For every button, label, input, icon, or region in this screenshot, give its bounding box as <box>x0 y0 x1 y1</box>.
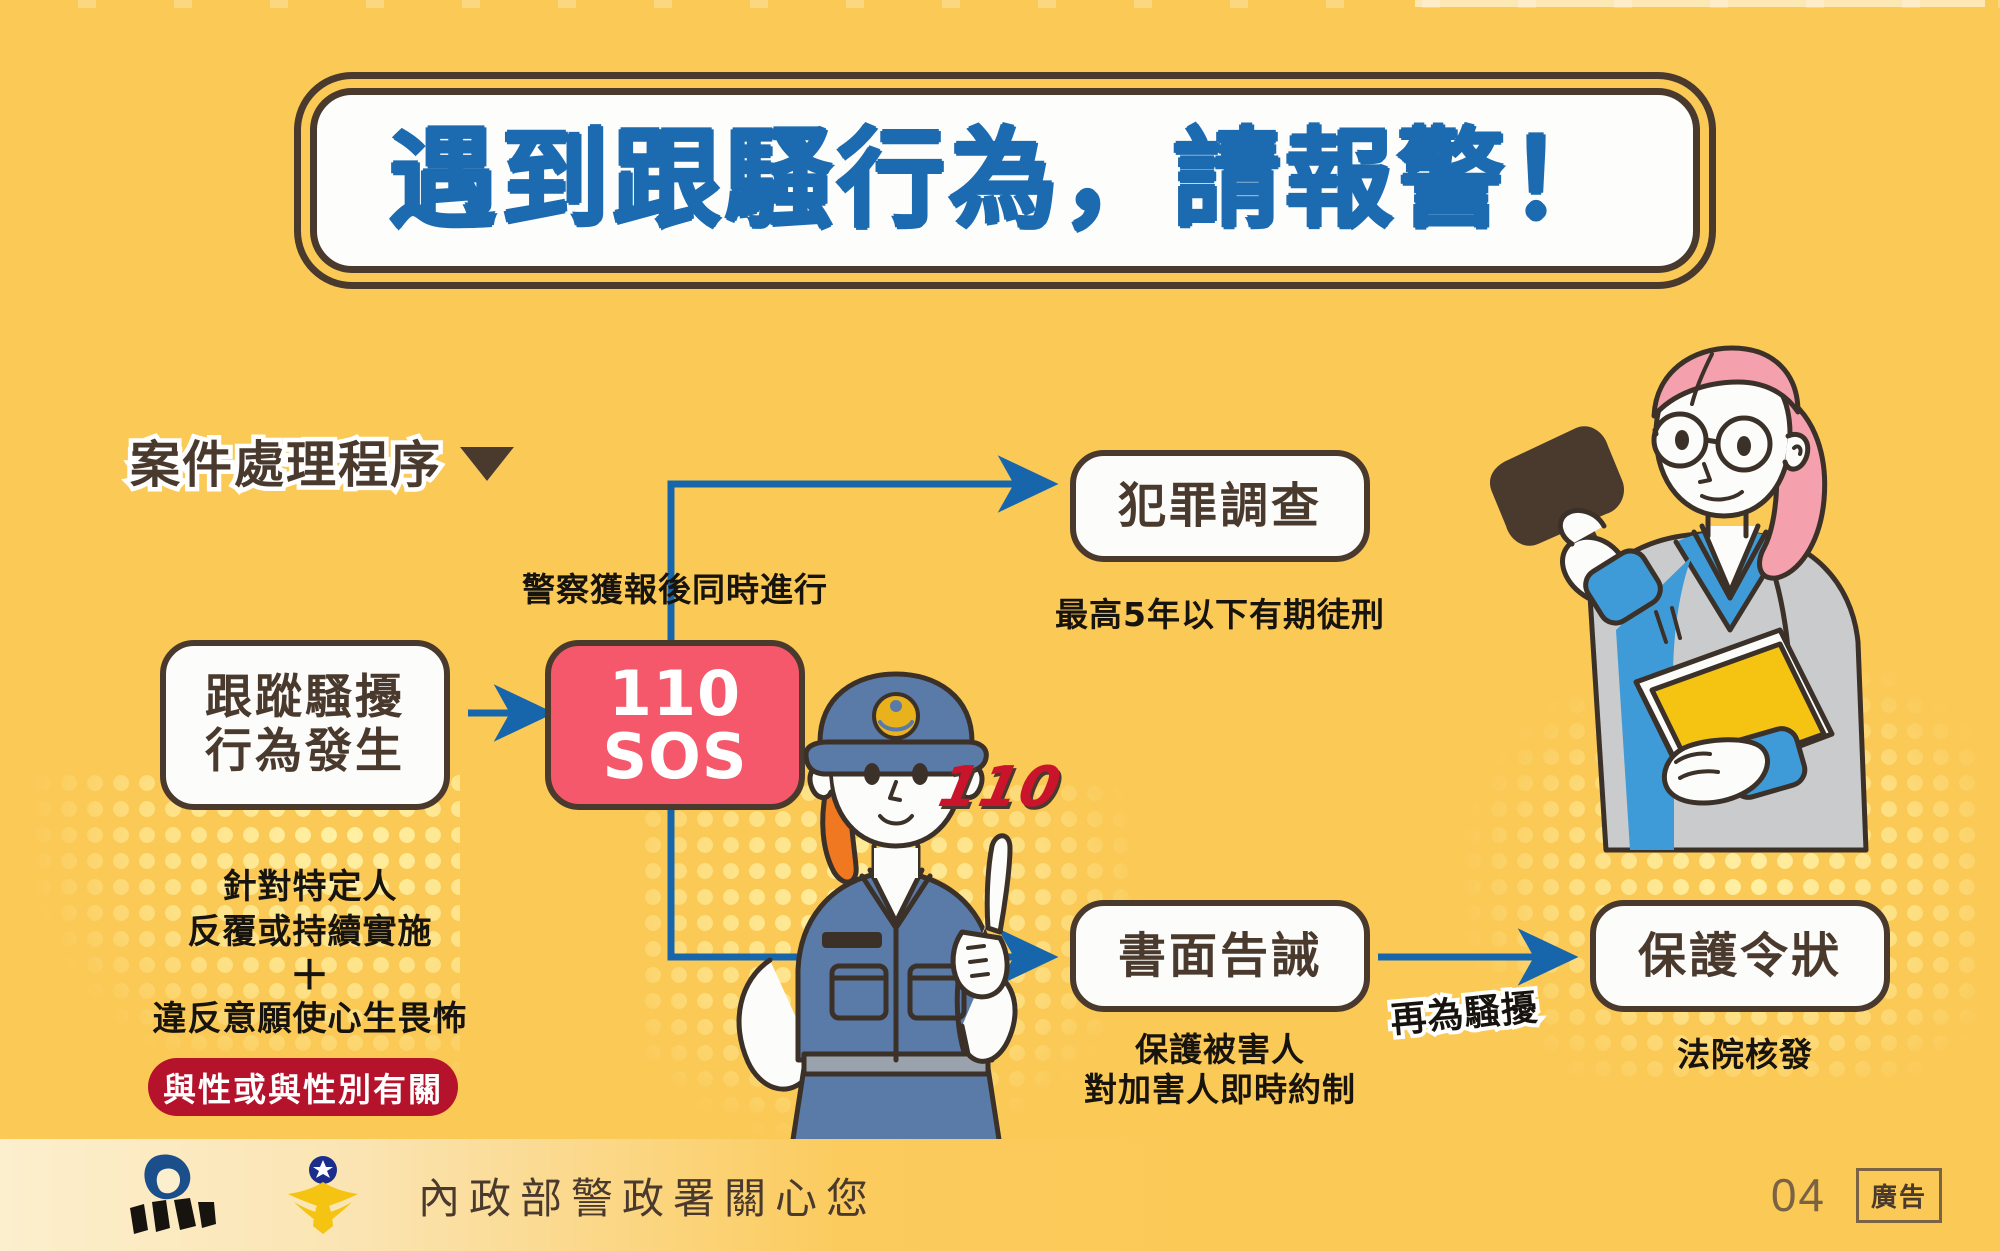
footer-right-group: 04 廣告 <box>1771 1168 1942 1223</box>
criteria-line2: 反覆或持續實施 <box>188 912 433 952</box>
judge-illustration <box>1480 330 1980 910</box>
note-warning-line1: 保護被害人 <box>1135 1030 1305 1069</box>
criteria-line1: 針對特定人 <box>223 867 398 907</box>
status-badge-gender-related: 與性或與性別有關 <box>148 1058 458 1116</box>
criteria-text: 針對特定人 反覆或持續實施 ＋ 違反意願使心生畏怖 <box>120 865 500 1042</box>
node-crime-investigation[interactable]: 犯罪調查 <box>1070 450 1370 562</box>
note-warning-line2: 對加害人即時約制 <box>1084 1070 1356 1109</box>
node-incident[interactable]: 跟蹤騷擾 行為發生 <box>160 640 450 810</box>
note-simultaneous: 警察獲報後同時進行 <box>495 570 855 610</box>
note-crime-investigation: 最高5年以下有期徒刑 <box>1030 595 1410 635</box>
speech-bubble-110: 110 <box>933 755 1067 820</box>
footer-bar: 內政部警政署關心您 04 廣告 <box>0 1139 2000 1251</box>
ministry-of-interior-logo <box>118 1152 226 1238</box>
national-police-agency-logo <box>280 1152 366 1238</box>
criteria-line3: 違反意願使心生畏怖 <box>153 999 468 1039</box>
node-incident-line1: 跟蹤騷擾 <box>205 671 405 725</box>
police-officer-illustration <box>700 670 1120 1170</box>
node-incident-line2: 行為發生 <box>205 725 405 779</box>
ad-label: 廣告 <box>1856 1168 1942 1223</box>
criteria-plus: ＋ <box>120 955 500 997</box>
footer-text: 內政部警政署關心您 <box>418 1165 877 1226</box>
node-protection-order[interactable]: 保護令狀 <box>1590 900 1890 1012</box>
note-protection-order: 法院核發 <box>1610 1035 1880 1075</box>
page-number: 04 <box>1771 1168 1826 1222</box>
poster-canvas: 遇到跟騷行為，請報警！ 案件處理程序 跟蹤騷擾 行為發生 針對特定人 反覆或持續… <box>0 0 2000 1251</box>
